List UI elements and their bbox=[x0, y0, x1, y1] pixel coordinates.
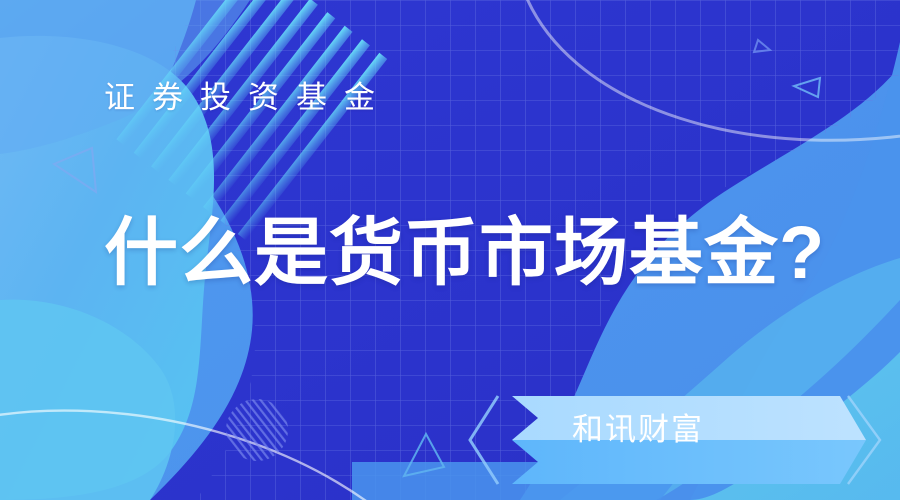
brand-name-label: 和讯财富 bbox=[572, 409, 802, 451]
banner-subtitle: 证券投资基金 bbox=[104, 78, 392, 118]
banner-headline: 什么是货币市场基金? bbox=[104, 209, 825, 297]
promo-banner: 证券投资基金 什么是货币市场基金? 和讯财富 bbox=[0, 0, 900, 500]
halftone-circle bbox=[226, 399, 288, 461]
